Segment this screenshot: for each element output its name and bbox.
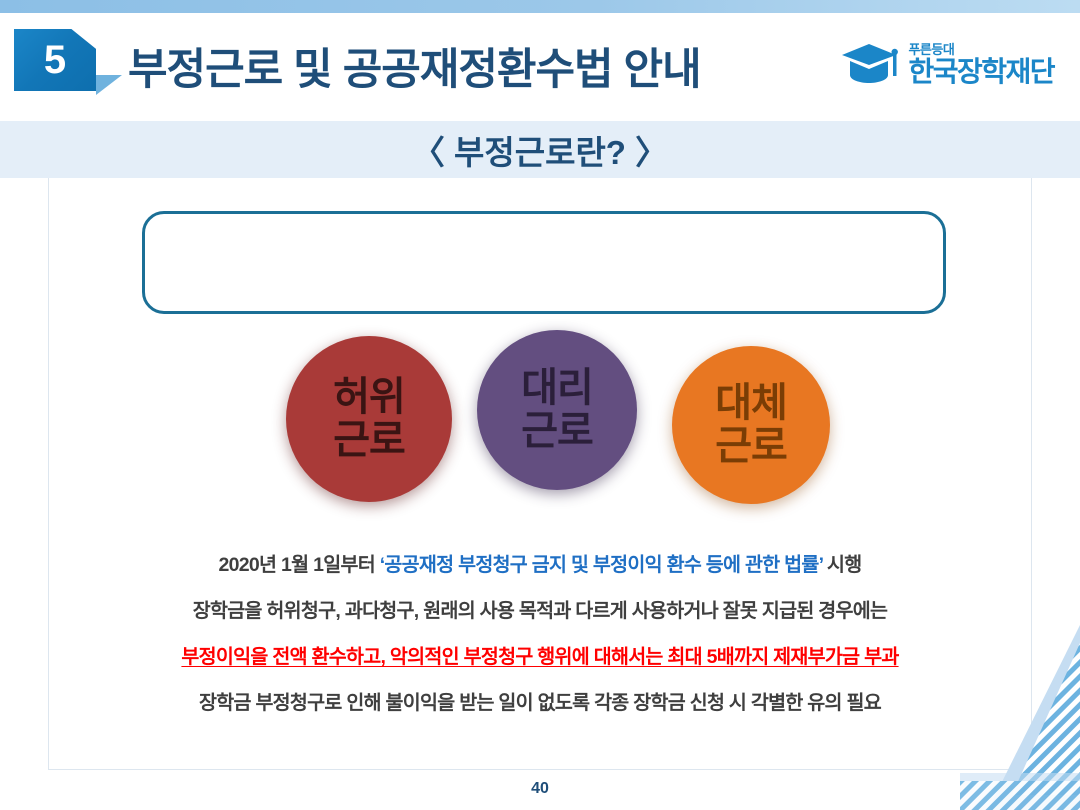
logo-sub-text: 푸른등대 (908, 43, 1054, 56)
body-line-3-warning: 부정이익을 전액 환수하고, 악의적인 부정청구 행위에 대해서는 최대 5배까… (48, 640, 1032, 669)
slide-canvas: 5 부정근로 및 공공재정환수법 안내 푸른등대 한국장학재단 〈 부정근로란?… (0, 0, 1080, 810)
slide-header: 5 부정근로 및 공공재정환수법 안내 푸른등대 한국장학재단 (0, 13, 1080, 121)
logo-text-block: 푸른등대 한국장학재단 (908, 43, 1054, 86)
circle-proxy-work-line1: 대리 (521, 367, 593, 410)
circle-proxy-work: 대리 근로 (477, 330, 637, 490)
circle-false-work-line1: 허위 (333, 376, 405, 419)
body-line-1: 2020년 1월 1일부터 ‘공공재정 부정청구 금지 및 부정이익 환수 등에… (48, 548, 1032, 577)
body-line-1-law-name: ‘공공재정 부정청구 금지 및 부정이익 환수 등에 관한 법률’ (380, 554, 823, 576)
circle-substitute-work: 대체 근로 (672, 346, 830, 504)
circle-proxy-work-line2: 근로 (521, 410, 593, 453)
body-line-1-pre: 2020년 1월 1일부터 (218, 554, 379, 576)
circle-substitute-work-line1: 대체 (715, 382, 787, 425)
body-line-2: 장학금을 허위청구, 과다청구, 원래의 사용 목적과 다르게 사용하거나 잘못… (48, 594, 1032, 623)
category-circles-group: 허위 근로 대리 근로 대체 근로 (270, 330, 870, 520)
subtitle-text: 〈 부정근로란? 〉 (412, 126, 668, 174)
circle-substitute-work-line2: 근로 (715, 425, 787, 468)
circle-false-work: 허위 근로 (286, 336, 452, 502)
badge-tail-triangle (96, 75, 122, 95)
graduation-cap-icon (838, 39, 900, 90)
subtitle-band: 〈 부정근로란? 〉 (0, 121, 1080, 178)
page-number: 40 (0, 780, 1080, 798)
circle-false-work-line2: 근로 (333, 419, 405, 462)
definition-box (142, 211, 946, 314)
logo-main-text: 한국장학재단 (908, 58, 1054, 86)
top-accent-bar-gradient (0, 0, 1080, 13)
page-title: 부정근로 및 공공재정환수법 안내 (128, 35, 701, 97)
organization-logo: 푸른등대 한국장학재단 (838, 39, 1054, 90)
body-text-block: 2020년 1월 1일부터 ‘공공재정 부정청구 금지 및 부정이익 환수 등에… (48, 548, 1032, 732)
body-line-1-post: 시행 (823, 554, 862, 576)
body-line-4: 장학금 부정청구로 인해 불이익을 받는 일이 없도록 각종 장학금 신청 시 … (48, 686, 1032, 715)
slide-number-badge: 5 (14, 29, 96, 91)
top-accent-bar (0, 0, 1080, 13)
